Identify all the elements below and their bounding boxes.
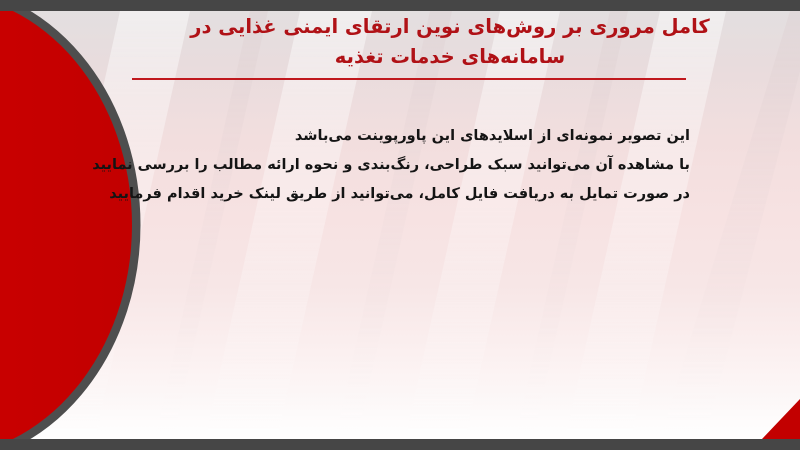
body-line-2: با مشاهده آن می‌توانید سبک طراحی، رنگ‌بن… <box>110 151 690 180</box>
slide-title: کامل مروری بر روش‌های نوین ارتقای ایمنی … <box>120 12 780 72</box>
presentation-slide: کامل مروری بر روش‌های نوین ارتقای ایمنی … <box>0 0 800 450</box>
bottom-frame-bar <box>0 439 800 450</box>
top-frame-bar <box>0 0 800 11</box>
body-line-3: در صورت تمایل به دریافت فایل کامل، می‌تو… <box>110 180 690 209</box>
slide-background-panel <box>0 11 800 439</box>
slide-title-line-2: سامانه‌های خدمات تغذیه <box>120 42 780 72</box>
slide-title-line-1: کامل مروری بر روش‌های نوین ارتقای ایمنی … <box>120 12 780 42</box>
title-underline-rule <box>132 78 686 80</box>
body-line-1: این تصویر نمونه‌ای از اسلایدهای این پاور… <box>110 122 690 151</box>
slide-body-text: این تصویر نمونه‌ای از اسلایدهای این پاور… <box>110 122 690 209</box>
